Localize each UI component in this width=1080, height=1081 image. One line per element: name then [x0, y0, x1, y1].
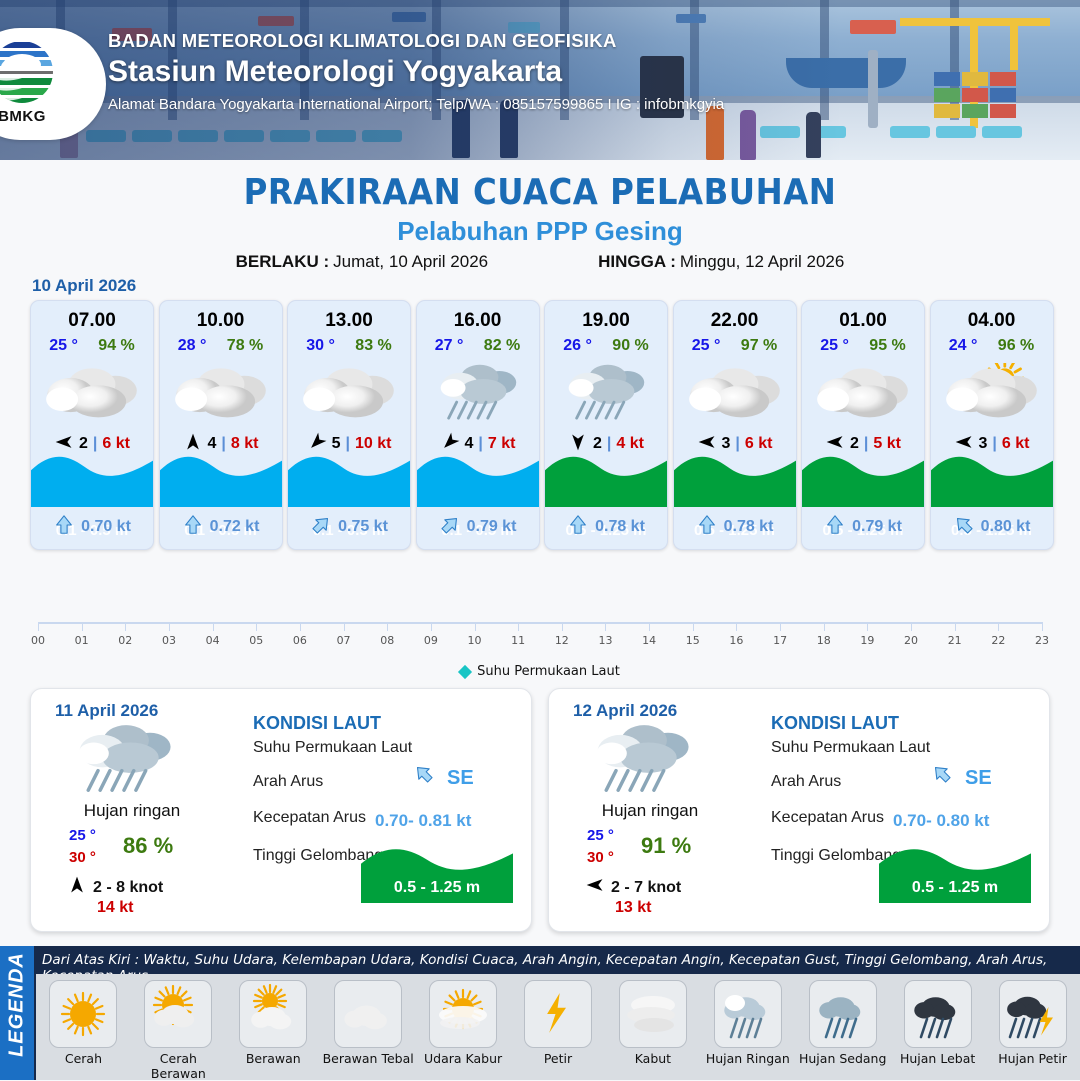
bmkg-logo-text: BMKG [0, 108, 58, 125]
current-direction-S-icon [696, 514, 718, 541]
legend-section: LEGENDA Dari Atas Kiri : Waktu, Suhu Uda… [0, 946, 1080, 1080]
legend-item: Berawan Tebal [321, 974, 416, 1066]
hour-card[interactable]: 10.00 28 ° 78 % 4 | 8 kt 0.1 - 0.5 m [159, 300, 283, 550]
axis-tick-label: 04 [206, 634, 220, 647]
cloud-sun-small-icon [239, 980, 307, 1048]
page-subtitle: Pelabuhan PPP Gesing [0, 216, 1080, 247]
hour-card[interactable]: 22.00 25 ° 97 % 3 | 6 kt 0.5 - 1.25 m [673, 300, 797, 550]
axis-tick-label: 07 [337, 634, 351, 647]
sea-conditions-title: KONDISI LAUT [771, 713, 899, 734]
hour-temp-hum: 28 ° 78 % [160, 337, 282, 355]
wave-band [674, 449, 796, 507]
hour-temperature: 27 ° [435, 337, 464, 355]
daily-humidity: 91 % [641, 833, 691, 859]
hour-time: 01.00 [802, 310, 924, 332]
axis-tick [169, 622, 170, 631]
axis-tick [344, 622, 345, 631]
label-current-speed: Kecepatan Arus [771, 809, 884, 827]
legend-item-label: Hujan Lebat [890, 1051, 985, 1066]
axis-tick [562, 622, 563, 631]
axis-tick-label: 16 [729, 634, 743, 647]
axis-tick-label: 09 [424, 634, 438, 647]
daily-current-direction: SE [965, 767, 992, 790]
hour-time: 04.00 [931, 310, 1053, 332]
weather-cloudy-icon [288, 363, 410, 427]
lightning-icon [524, 980, 592, 1048]
haze-icon [429, 980, 497, 1048]
daily-current-direction: SE [447, 767, 474, 790]
hour-temperature: 28 ° [178, 337, 207, 355]
wind-direction-W-icon [585, 875, 605, 900]
weather-rain-icon [545, 363, 667, 427]
axis-tick [125, 622, 126, 631]
daily-current-speed: 0.70- 0.81 kt [375, 811, 471, 831]
hour-temp-hum: 25 ° 97 % [674, 337, 796, 355]
legend-item: Kabut [605, 974, 700, 1066]
axis-tick-label: 23 [1035, 634, 1049, 647]
legend-item: Berawan [226, 974, 321, 1066]
wave-band [288, 449, 410, 507]
weather-rain-icon [587, 723, 697, 801]
hour-humidity: 95 % [869, 337, 905, 355]
label-current-direction: Arah Arus [253, 773, 323, 791]
hour-time: 19.00 [545, 310, 667, 332]
axis-tick [82, 622, 83, 631]
legend-item-label: Petir [511, 1051, 606, 1066]
daily-forecast-row: 11 April 2026 Hujan ringan 25 ° 30 ° 86 … [30, 688, 1050, 930]
hour-temperature: 25 ° [820, 337, 849, 355]
axis-tick-label: 10 [468, 634, 482, 647]
axis-tick-label: 08 [380, 634, 394, 647]
weather-rain-icon [417, 363, 539, 427]
daily-gust: 14 kt [97, 899, 133, 917]
hourly-forecast-row: 07.00 25 ° 94 % 2 | 6 kt 0.1 - 0.5 m [30, 300, 1052, 550]
legend-item-label: Udara Kabur [416, 1051, 511, 1066]
axis-tick [649, 622, 650, 631]
axis-tick-label: 20 [904, 634, 918, 647]
legend-strip-label: LEGENDA [6, 948, 29, 1062]
axis-tick [431, 622, 432, 631]
hour-temp-hum: 25 ° 94 % [31, 337, 153, 355]
hour-time: 13.00 [288, 310, 410, 332]
sun-icon [49, 980, 117, 1048]
cloud-thick-icon [334, 980, 402, 1048]
station-name: Stasiun Meteorologi Yogyakarta [108, 55, 1008, 89]
hour-temp-hum: 27 ° 82 % [417, 337, 539, 355]
current-speed: 0.72 kt [210, 518, 260, 536]
hour-temperature: 30 ° [306, 337, 335, 355]
axis-tick-label: 00 [31, 634, 45, 647]
legend-item: Hujan Sedang [795, 974, 890, 1066]
weather-cloudy-icon [160, 363, 282, 427]
legend-item: Cerah [36, 974, 131, 1066]
axis-tick [213, 622, 214, 631]
valid-until-value: Minggu, 12 April 2026 [680, 252, 844, 271]
rain-heavy-icon [904, 980, 972, 1048]
axis-tick [693, 622, 694, 631]
current-speed: 0.70 kt [81, 518, 131, 536]
current-direction-S-icon [53, 514, 75, 541]
valid-from-value: Jumat, 10 April 2026 [333, 252, 488, 271]
current-direction-SE-icon [931, 763, 961, 793]
page-header: BMKG BADAN METEOROLOGI KLIMATOLOGI DAN G… [0, 0, 1080, 160]
label-sst: Suhu Permukaan Laut [771, 739, 930, 757]
hour-card[interactable]: 19.00 26 ° 90 % 2 | 4 kt 0.5 - 1.25 m 0.… [544, 300, 668, 550]
hour-temp-hum: 24 ° 96 % [931, 337, 1053, 355]
axis-tick [518, 622, 519, 631]
hour-time: 10.00 [160, 310, 282, 332]
axis-tick [955, 622, 956, 631]
daily-gust: 13 kt [615, 899, 651, 917]
sst-legend-label: Suhu Permukaan Laut [477, 664, 620, 679]
axis-tick-label: 02 [118, 634, 132, 647]
valid-from: BERLAKU :Jumat, 10 April 2026 [236, 252, 488, 272]
current-speed: 0.78 kt [595, 518, 645, 536]
axis-tick-label: 15 [686, 634, 700, 647]
axis-tick [605, 622, 606, 631]
current-speed: 0.79 kt [852, 518, 902, 536]
axis-tick-label: 18 [817, 634, 831, 647]
axis-tick [475, 622, 476, 631]
hour-current-row: 0.80 kt [931, 511, 1053, 543]
axis-tick-label: 03 [162, 634, 176, 647]
axis-tick [736, 622, 737, 631]
axis-tick [38, 622, 39, 631]
hour-humidity: 90 % [612, 337, 648, 355]
hour-humidity: 94 % [98, 337, 134, 355]
daily-temp-max: 30 ° [587, 849, 614, 866]
daily-wind-range: 2 - 8 knot [93, 879, 163, 897]
valid-until-label: HINGGA : [598, 252, 676, 271]
page-title: PRAKIRAAN CUACA PELABUHAN [0, 172, 1080, 213]
agency-name: BADAN METEOROLOGI KLIMATOLOGI DAN GEOFIS… [108, 30, 1008, 52]
legend-item: Cerah Berawan [131, 974, 226, 1081]
weather-cloudy-icon [31, 363, 153, 427]
axis-tick-label: 14 [642, 634, 656, 647]
legend-item-label: Cerah [36, 1051, 131, 1066]
weather-rain-icon [69, 723, 179, 801]
hour-humidity: 82 % [484, 337, 520, 355]
daily-card[interactable]: 11 April 2026 Hujan ringan 25 ° 30 ° 86 … [30, 688, 532, 932]
hour-card[interactable]: 07.00 25 ° 94 % 2 | 6 kt 0.1 - 0.5 m [30, 300, 154, 550]
current-direction-S-icon [182, 514, 204, 541]
legend-item-label: Hujan Petir [985, 1051, 1080, 1066]
hour-temperature: 24 ° [949, 337, 978, 355]
current-direction-S-icon [824, 514, 846, 541]
legend-item: Hujan Lebat [890, 974, 985, 1066]
valid-until: HINGGA :Minggu, 12 April 2026 [598, 252, 844, 272]
legend-strip: LEGENDA [0, 946, 34, 1080]
hour-humidity: 97 % [741, 337, 777, 355]
axis-tick [998, 622, 999, 631]
weather-partly-sunny-icon [931, 363, 1053, 427]
hour-time: 07.00 [31, 310, 153, 332]
daily-temp-max: 30 ° [69, 849, 96, 866]
hour-card[interactable]: 16.00 27 ° 82 % 4 | 7 kt 0.1 - 0.5 m 0.7… [416, 300, 540, 550]
legend-items-row: Cerah Cerah Berawan Berawan Berawan Teba… [36, 974, 1080, 1080]
axis-tick-label: 17 [773, 634, 787, 647]
sst-chart: 0001020304050607080910111213141516171819… [30, 600, 1050, 680]
axis-tick-label: 11 [511, 634, 525, 647]
station-address: Alamat Bandara Yogyakarta International … [108, 96, 1008, 113]
hour-temp-hum: 30 ° 83 % [288, 337, 410, 355]
axis-tick-label: 19 [860, 634, 874, 647]
wave-band [931, 449, 1053, 507]
hour-humidity: 96 % [998, 337, 1034, 355]
rain-light-icon [714, 980, 782, 1048]
daily-date: 12 April 2026 [573, 701, 677, 721]
sea-conditions-title: KONDISI LAUT [253, 713, 381, 734]
daily-condition: Hujan ringan [37, 801, 227, 821]
daily-wave-height: 0.5 - 1.25 m [879, 879, 1031, 897]
current-direction-SW-icon [439, 514, 461, 541]
hour-temperature: 26 ° [563, 337, 592, 355]
axis-tick-label: 05 [249, 634, 263, 647]
legend-item-label: Hujan Sedang [795, 1051, 890, 1066]
axis-tick [387, 622, 388, 631]
axis-tick-label: 13 [598, 634, 612, 647]
wind-direction-N-icon [67, 875, 87, 900]
axis-tick [824, 622, 825, 631]
hour-current-row: 0.75 kt [288, 511, 410, 543]
axis-tick [256, 622, 257, 631]
current-direction-S-icon [567, 514, 589, 541]
axis-tick-label: 06 [293, 634, 307, 647]
label-sst: Suhu Permukaan Laut [253, 739, 412, 757]
label-current-direction: Arah Arus [771, 773, 841, 791]
wave-band [160, 449, 282, 507]
daily-wave-height: 0.5 - 1.25 m [361, 879, 513, 897]
axis-tick-label: 12 [555, 634, 569, 647]
hour-current-row: 0.72 kt [160, 511, 282, 543]
current-speed: 0.80 kt [981, 518, 1031, 536]
hour-card[interactable]: 01.00 25 ° 95 % 2 | 5 kt 0.5 - 1.25 m [801, 300, 925, 550]
daily-current-speed: 0.70- 0.80 kt [893, 811, 989, 831]
hour-humidity: 78 % [227, 337, 263, 355]
axis-tick [1042, 622, 1043, 631]
hour-temp-hum: 25 ° 95 % [802, 337, 924, 355]
current-direction-SE-icon [953, 514, 975, 541]
current-speed: 0.79 kt [467, 518, 517, 536]
weather-cloudy-icon [802, 363, 924, 427]
rain-medium-icon [809, 980, 877, 1048]
axis-tick-label: 01 [75, 634, 89, 647]
legend-item-label: Cerah Berawan [131, 1051, 226, 1081]
axis-tick [867, 622, 868, 631]
wave-band [31, 449, 153, 507]
current-direction-SE-icon [413, 763, 443, 793]
hour-temp-hum: 26 ° 90 % [545, 337, 667, 355]
hour-humidity: 83 % [355, 337, 391, 355]
hour-temperature: 25 ° [49, 337, 78, 355]
current-direction-SW-icon [310, 514, 332, 541]
hour-current-row: 0.70 kt [31, 511, 153, 543]
wave-band [545, 449, 667, 507]
weather-cloudy-icon [674, 363, 796, 427]
sun-cloud-icon [144, 980, 212, 1048]
hour-temperature: 25 ° [692, 337, 721, 355]
daily-condition: Hujan ringan [555, 801, 745, 821]
hourly-day-label: 10 April 2026 [32, 276, 136, 296]
label-current-speed: Kecepatan Arus [253, 809, 366, 827]
hour-card[interactable]: 13.00 30 ° 83 % 5 | 10 kt 0.1 - 0.5 m [287, 300, 411, 550]
fog-icon [619, 980, 687, 1048]
daily-humidity: 86 % [123, 833, 173, 859]
bmkg-emblem-icon [0, 38, 58, 110]
wave-band [802, 449, 924, 507]
hour-current-row: 0.78 kt [545, 511, 667, 543]
legend-item-label: Berawan [226, 1051, 321, 1066]
legend-item: Petir [511, 974, 606, 1066]
daily-date: 11 April 2026 [55, 701, 158, 721]
wave-band [417, 449, 539, 507]
daily-wind-row: 2 - 7 knot [585, 875, 681, 900]
axis-tick [780, 622, 781, 631]
axis-tick-label: 22 [991, 634, 1005, 647]
current-speed: 0.75 kt [338, 518, 388, 536]
hour-time: 16.00 [417, 310, 539, 332]
hour-time: 22.00 [674, 310, 796, 332]
hour-current-row: 0.79 kt [802, 511, 924, 543]
daily-wind-row: 2 - 8 knot [67, 875, 163, 900]
legend-item-label: Kabut [605, 1051, 700, 1066]
axis-tick [300, 622, 301, 631]
daily-temp-min: 25 ° [587, 827, 614, 844]
hour-card[interactable]: 04.00 24 ° 96 % 3 | 6 kt [930, 300, 1054, 550]
sst-marker-icon [458, 664, 472, 678]
legend-item-label: Hujan Ringan [700, 1051, 795, 1066]
current-speed: 0.78 kt [724, 518, 774, 536]
legend-item-label: Berawan Tebal [321, 1051, 416, 1066]
axis-tick-label: 21 [948, 634, 962, 647]
hour-current-row: 0.79 kt [417, 511, 539, 543]
header-text-block: BADAN METEOROLOGI KLIMATOLOGI DAN GEOFIS… [108, 30, 1008, 113]
daily-temp-min: 25 ° [69, 827, 96, 844]
daily-wind-range: 2 - 7 knot [611, 879, 681, 897]
rain-thunder-icon [999, 980, 1067, 1048]
hour-current-row: 0.78 kt [674, 511, 796, 543]
chart-x-axis: 0001020304050607080910111213141516171819… [30, 622, 1050, 658]
axis-tick [911, 622, 912, 631]
chart-legend: Suhu Permukaan Laut [30, 664, 1050, 679]
legend-item: Hujan Petir [985, 974, 1080, 1066]
legend-item: Udara Kabur [416, 974, 511, 1066]
validity-row: BERLAKU :Jumat, 10 April 2026 HINGGA :Mi… [0, 252, 1080, 272]
daily-card[interactable]: 12 April 2026 Hujan ringan 25 ° 30 ° 91 … [548, 688, 1050, 932]
valid-from-label: BERLAKU : [236, 252, 330, 271]
legend-item: Hujan Ringan [700, 974, 795, 1066]
